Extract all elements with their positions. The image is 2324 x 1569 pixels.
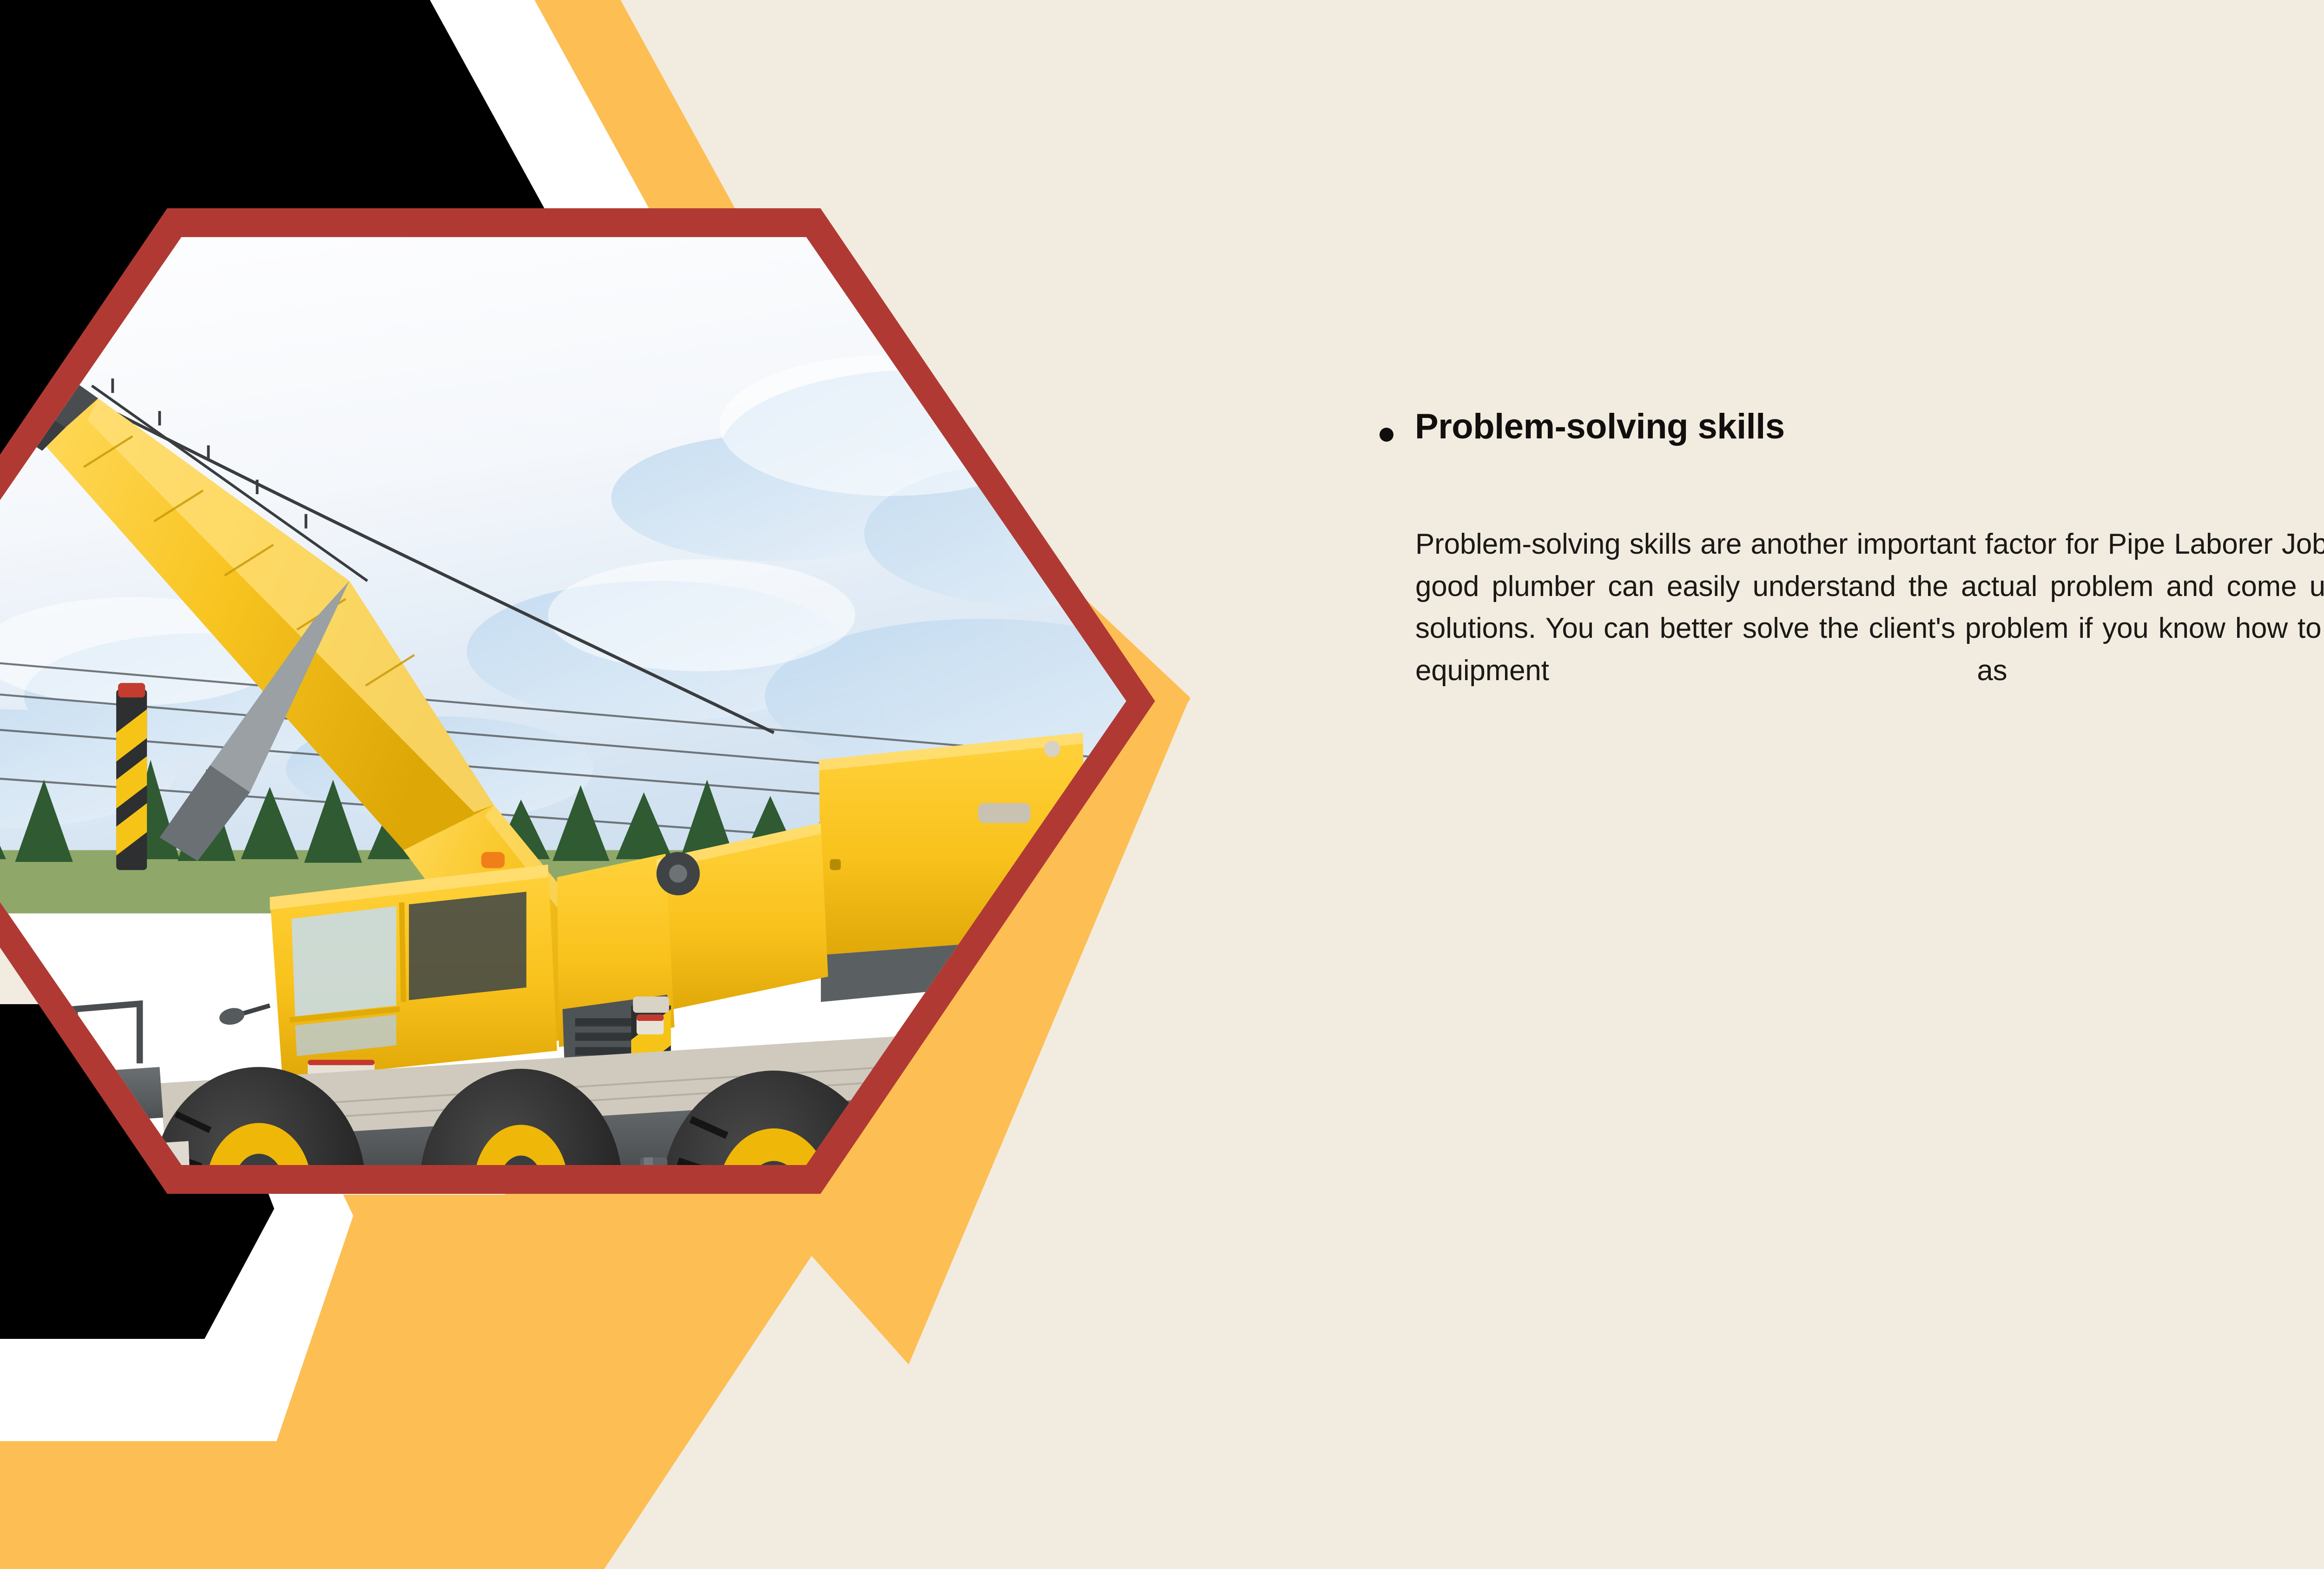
crane-construction-photo [0,237,1126,1165]
page-title: Problem-solving skills [1415,409,1785,444]
body-paragraph: Problem-solving skills are another impor… [1415,523,2324,734]
slide-canvas: Problem-solving skills Problem-solving s… [0,0,2324,1569]
hexagon-image-clip [0,237,1126,1165]
bullet-heading-row: Problem-solving skills [1380,409,2324,444]
text-content-column: Problem-solving skills Problem-solving s… [1371,409,2324,763]
bullet-dot-icon [1380,428,1393,442]
hexagon-image-frame [0,208,1155,1194]
